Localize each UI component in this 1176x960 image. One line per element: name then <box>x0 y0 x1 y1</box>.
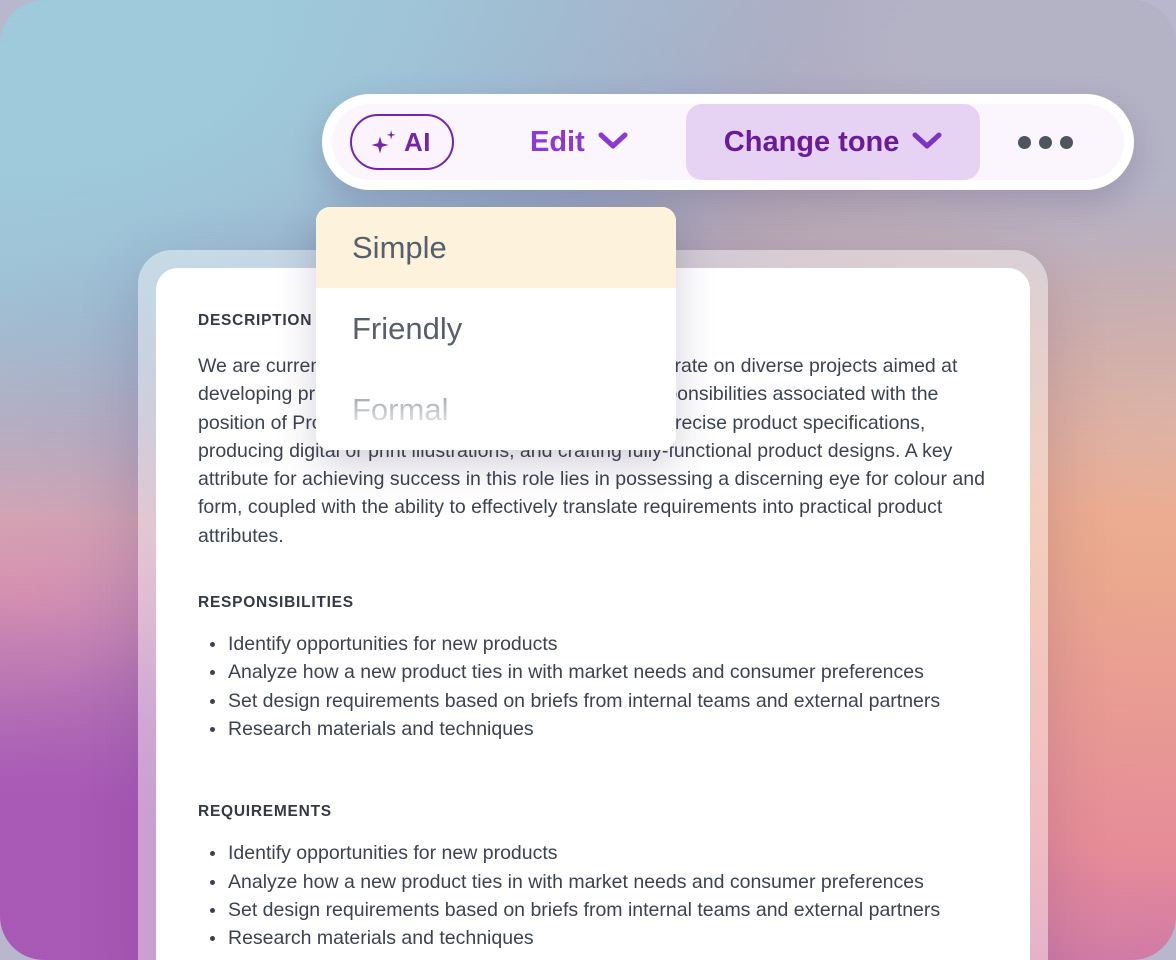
requirements-section: REQUIREMENTS Identify opportunities for … <box>198 803 988 952</box>
ai-badge-label: AI <box>404 127 431 158</box>
sparkle-icon <box>369 127 399 157</box>
ellipsis-dot <box>1060 136 1073 149</box>
list-item: Identify opportunities for new products <box>198 839 988 867</box>
change-tone-button[interactable]: Change tone <box>686 104 981 180</box>
tone-option-friendly[interactable]: Friendly <box>316 288 676 369</box>
ellipsis-dot <box>1039 136 1052 149</box>
list-item: Research materials and techniques <box>198 715 988 743</box>
list-item: Set design requirements based on briefs … <box>198 687 988 715</box>
chevron-down-icon <box>598 126 628 159</box>
ai-badge-button[interactable]: AI <box>350 114 454 170</box>
ellipsis-icon[interactable] <box>1018 136 1073 149</box>
app-stage: DESCRIPTION We are currently seeking a P… <box>0 0 1176 960</box>
tone-option-label: Formal <box>352 392 448 428</box>
responsibilities-section: RESPONSIBILITIES Identify opportunities … <box>198 594 988 743</box>
change-tone-button-label: Change tone <box>724 126 900 159</box>
list-item: Identify opportunities for new products <box>198 630 988 658</box>
list-item: Set design requirements based on briefs … <box>198 896 988 924</box>
responsibilities-list: Identify opportunities for new products … <box>198 630 988 743</box>
ai-toolbar-inner: AI Edit Change tone <box>332 104 1124 180</box>
tone-option-formal[interactable]: Formal <box>316 369 676 450</box>
ai-toolbar: AI Edit Change tone <box>322 94 1134 190</box>
tone-option-label: Friendly <box>352 311 462 347</box>
edit-button-label: Edit <box>530 126 585 159</box>
edit-button[interactable]: Edit <box>530 126 628 159</box>
chevron-down-icon <box>912 126 942 159</box>
tone-dropdown-menu: Simple Friendly Formal <box>316 207 676 450</box>
section-heading-responsibilities: RESPONSIBILITIES <box>198 594 988 612</box>
list-item: Research materials and techniques <box>198 924 988 952</box>
ellipsis-dot <box>1018 136 1031 149</box>
tone-option-label: Simple <box>352 230 447 266</box>
section-heading-requirements: REQUIREMENTS <box>198 803 988 821</box>
list-item: Analyze how a new product ties in with m… <box>198 868 988 896</box>
tone-option-simple[interactable]: Simple <box>316 207 676 288</box>
list-item: Analyze how a new product ties in with m… <box>198 658 988 686</box>
requirements-list: Identify opportunities for new products … <box>198 839 988 952</box>
